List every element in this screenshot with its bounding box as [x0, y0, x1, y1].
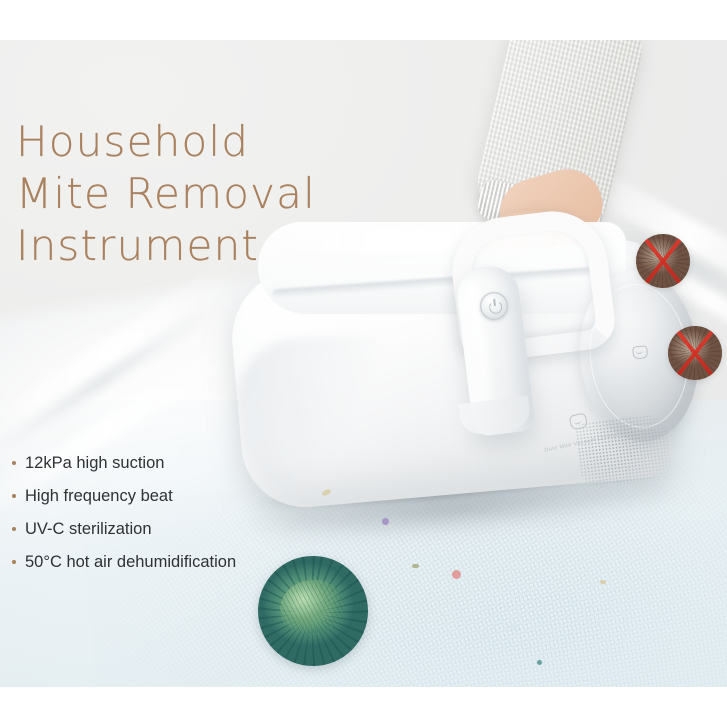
feature-label: UV-C sterilization: [25, 518, 152, 541]
bullet-icon: [12, 527, 16, 531]
power-icon: [488, 300, 502, 314]
mijia-logo-icon: [632, 345, 648, 359]
dust-particle: [452, 570, 461, 579]
feature-label: 50°C hot air dehumidification: [25, 551, 236, 574]
vacuum-handle[interactable]: [440, 214, 580, 444]
dust-particle: [537, 660, 542, 665]
feature-list: 12kPa high suction High frequency beat U…: [10, 452, 310, 584]
feature-label: 12kPa high suction: [25, 452, 164, 475]
feature-label: High frequency beat: [25, 485, 173, 508]
bullet-icon: [12, 494, 16, 498]
list-item: 12kPa high suction: [10, 452, 310, 475]
dust-particle: [382, 518, 389, 525]
list-item: High frequency beat: [10, 485, 310, 508]
list-item: UV-C sterilization: [10, 518, 310, 541]
bullet-icon: [12, 560, 16, 564]
product-marketing-image: Dust Mite Vacuum Cleaner: [0, 0, 727, 727]
mite-inset-crossed-2: [668, 326, 722, 380]
dust-particle: [412, 564, 419, 568]
list-item: 50°C hot air dehumidification: [10, 551, 310, 574]
headline: Household Mite Removal Instrument: [16, 116, 396, 272]
bullet-icon: [12, 461, 16, 465]
mite-inset-crossed-1: [636, 234, 690, 288]
